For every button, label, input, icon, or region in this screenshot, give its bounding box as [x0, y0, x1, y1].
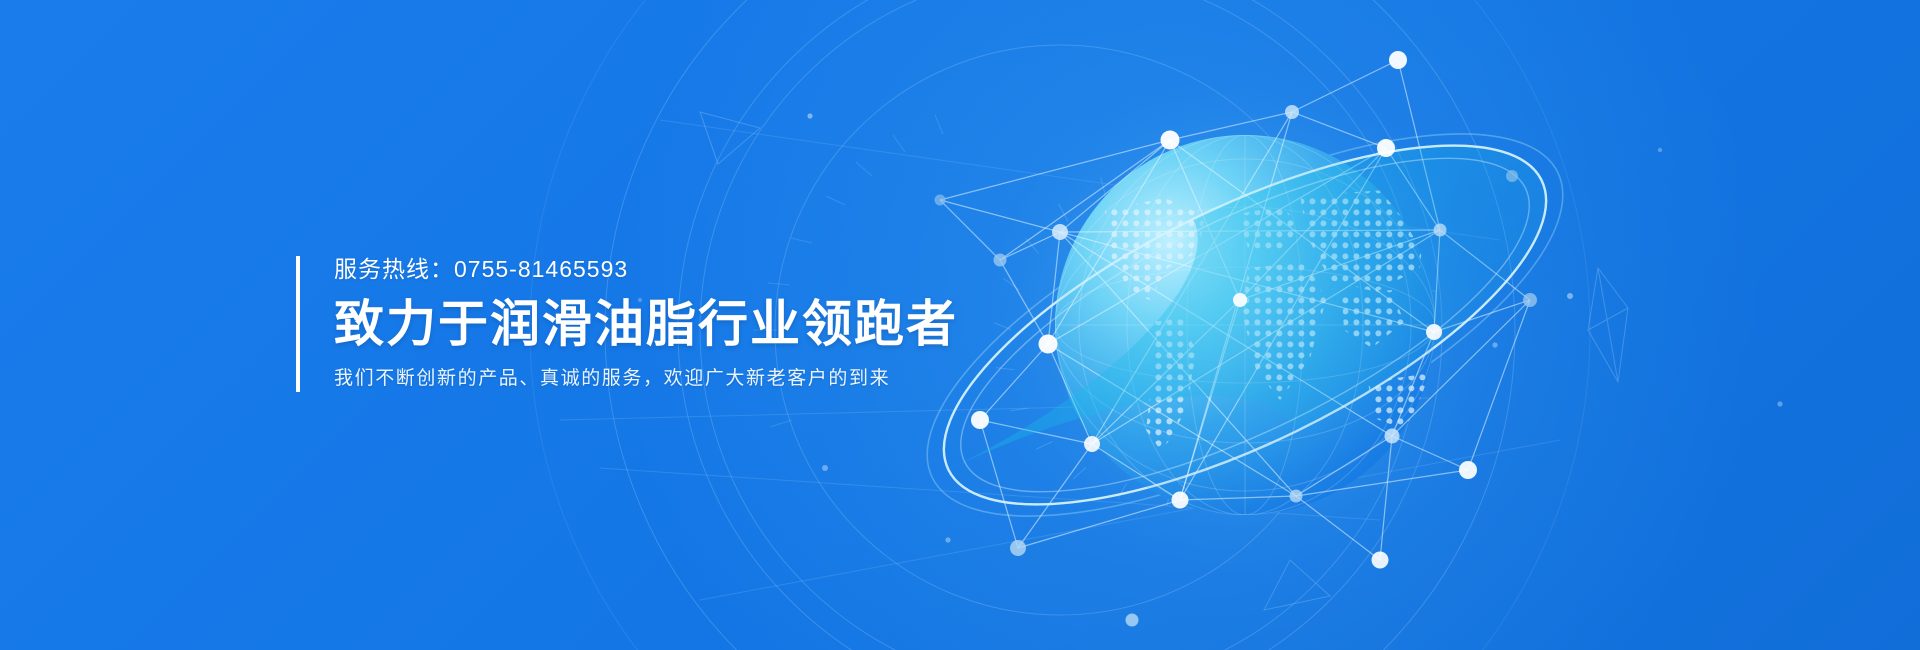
orbit-ring — [897, 74, 1594, 575]
network-mesh-nodes — [935, 51, 1538, 627]
network-mesh-edges — [940, 60, 1530, 560]
globe-continents — [1055, 135, 1440, 515]
orbit-ring-back — [876, 57, 1614, 592]
arc-tick-marks — [994, 151, 1442, 506]
globe-sphere — [1055, 135, 1435, 515]
background-decoration-layer — [0, 0, 1920, 650]
service-hotline-text: 服务热线：0755-81465593 — [334, 256, 958, 281]
network-globe-illustration — [0, 0, 1920, 650]
hero-subtitle: 我们不断创新的产品、真诚的服务，欢迎广大新老客户的到来 — [334, 349, 958, 388]
hero-banner: 服务热线：0755-81465593 致力于润滑油脂行业领跑者 我们不断创新的产… — [0, 0, 1920, 650]
page-title: 致力于润滑油脂行业领跑者 — [334, 281, 958, 349]
hero-copy-block: 服务热线：0755-81465593 致力于润滑油脂行业领跑者 我们不断创新的产… — [296, 256, 958, 392]
